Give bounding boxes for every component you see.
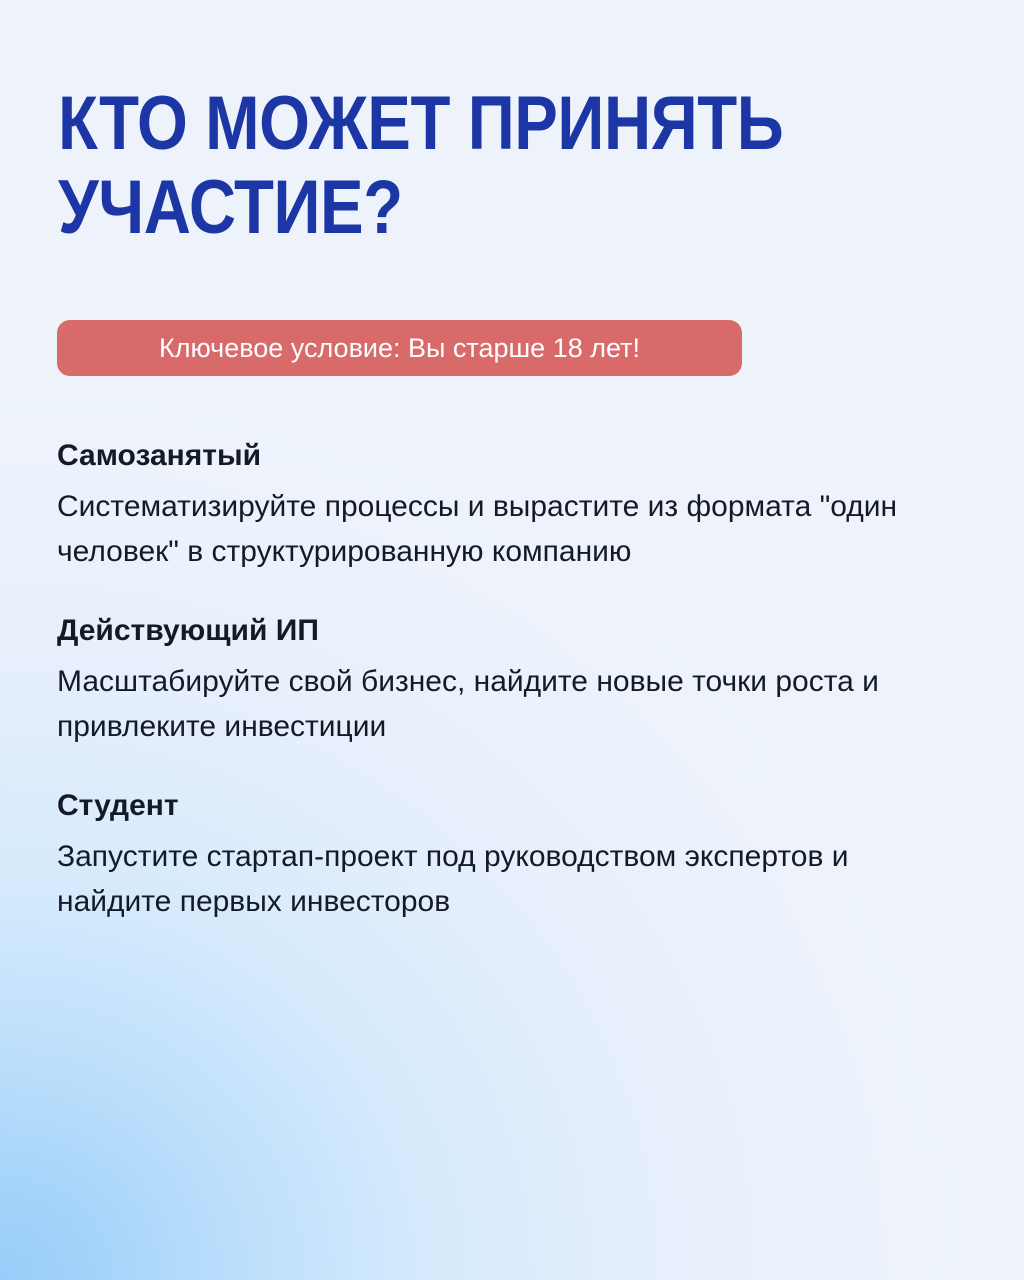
audience-description: Запустите стартап-проект под руководство… [57, 834, 947, 924]
status-badge-label: Ключевое условие: Вы старше 18 лет! [159, 333, 640, 363]
page-title: Кто может принять участие? [58, 82, 815, 250]
audience-heading: Самозанятый [57, 437, 952, 475]
status-badge: Ключевое условие: Вы старше 18 лет! [57, 320, 742, 376]
audience-heading: Действующий ИП [57, 612, 952, 650]
list-item: Самозанятый Систематизируйте процессы и … [57, 437, 952, 574]
audience-heading: Студент [57, 787, 952, 825]
audience-list: Самозанятый Систематизируйте процессы и … [57, 437, 952, 924]
list-item: Студент Запустите стартап-проект под рук… [57, 787, 952, 924]
audience-description: Масштабируйте свой бизнес, найдите новые… [57, 659, 947, 749]
audience-description: Систематизируйте процессы и вырастите из… [57, 484, 947, 574]
slide-root: Кто может принять участие? Ключевое усло… [0, 0, 1024, 1280]
list-item: Действующий ИП Масштабируйте свой бизнес… [57, 612, 952, 749]
